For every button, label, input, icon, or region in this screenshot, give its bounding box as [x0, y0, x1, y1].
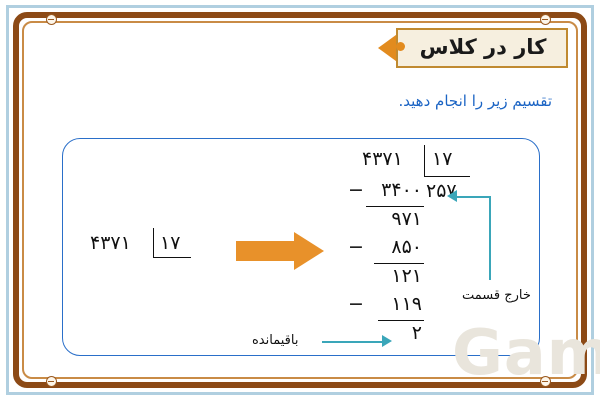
- division-step-row: − ۳۴۰۰: [350, 179, 422, 201]
- source-divisor: ۱۷: [160, 232, 180, 254]
- division-step-value: ۹۷۱: [391, 208, 422, 230]
- quotient-callout-line-horizontal: [455, 196, 491, 198]
- worked-division: ۴۳۷۱ ۱۷ ۲۵۷ − ۳۴۰۰ ۹۷۱ − ۸۵۰ ۱۲۱ −: [352, 148, 470, 338]
- division-step-value: ۱۲۱: [391, 265, 422, 287]
- division-step-value: ۱۱۹: [391, 293, 422, 315]
- source-dividend: ۴۳۷۱: [90, 232, 131, 254]
- division-vertical-rule: [424, 145, 425, 177]
- division-remainder-value: ۲: [412, 322, 422, 344]
- quotient-callout-line-vertical: [489, 196, 491, 280]
- division-horizontal-rule: [153, 257, 191, 258]
- corner-screw-icon: [540, 14, 551, 25]
- right-arrow-icon: [236, 232, 324, 270]
- division-step-rule: [366, 206, 424, 207]
- division-step-sign: −: [348, 293, 365, 315]
- arrow-shaft: [236, 241, 296, 261]
- corner-screw-icon: [46, 14, 57, 25]
- division-dividend: ۴۳۷۱: [362, 148, 403, 170]
- division-vertical-rule: [153, 228, 154, 258]
- title-banner: کار در کلاس: [378, 26, 568, 70]
- arrow-head: [294, 232, 324, 270]
- division-step-value: ۸۵۰: [391, 236, 422, 258]
- division-step-rule: [374, 263, 424, 264]
- division-step-rule: [378, 320, 424, 321]
- division-step-row: ۹۷۱: [350, 208, 422, 230]
- division-step-sign: −: [348, 236, 365, 258]
- corner-screw-icon: [46, 376, 57, 387]
- division-horizontal-rule: [424, 176, 470, 177]
- division-step-row: − ۱۱۹: [350, 293, 422, 315]
- division-divisor: ۱۷: [432, 148, 452, 170]
- source-problem: ۴۳۷۱ ۱۷: [90, 228, 200, 272]
- division-step-row: − ۸۵۰: [350, 236, 422, 258]
- remainder-callout-arrow-icon: [382, 335, 392, 347]
- banner-title: کار در کلاس: [404, 32, 562, 62]
- division-step-row: ۱۲۱: [350, 265, 422, 287]
- quotient-callout-label: خارج قسمت: [462, 288, 531, 303]
- instruction-text: تقسیم زیر را انجام دهید.: [399, 92, 552, 110]
- watermark-text: Gama: [452, 316, 600, 389]
- division-step-value: ۳۴۰۰: [381, 179, 422, 201]
- division-step-sign: −: [348, 179, 365, 201]
- remainder-callout-label: باقیمانده: [252, 333, 298, 348]
- worksheet-page: کار در کلاس تقسیم زیر را انجام دهید. Gam…: [0, 0, 600, 400]
- remainder-callout-line: [322, 341, 384, 343]
